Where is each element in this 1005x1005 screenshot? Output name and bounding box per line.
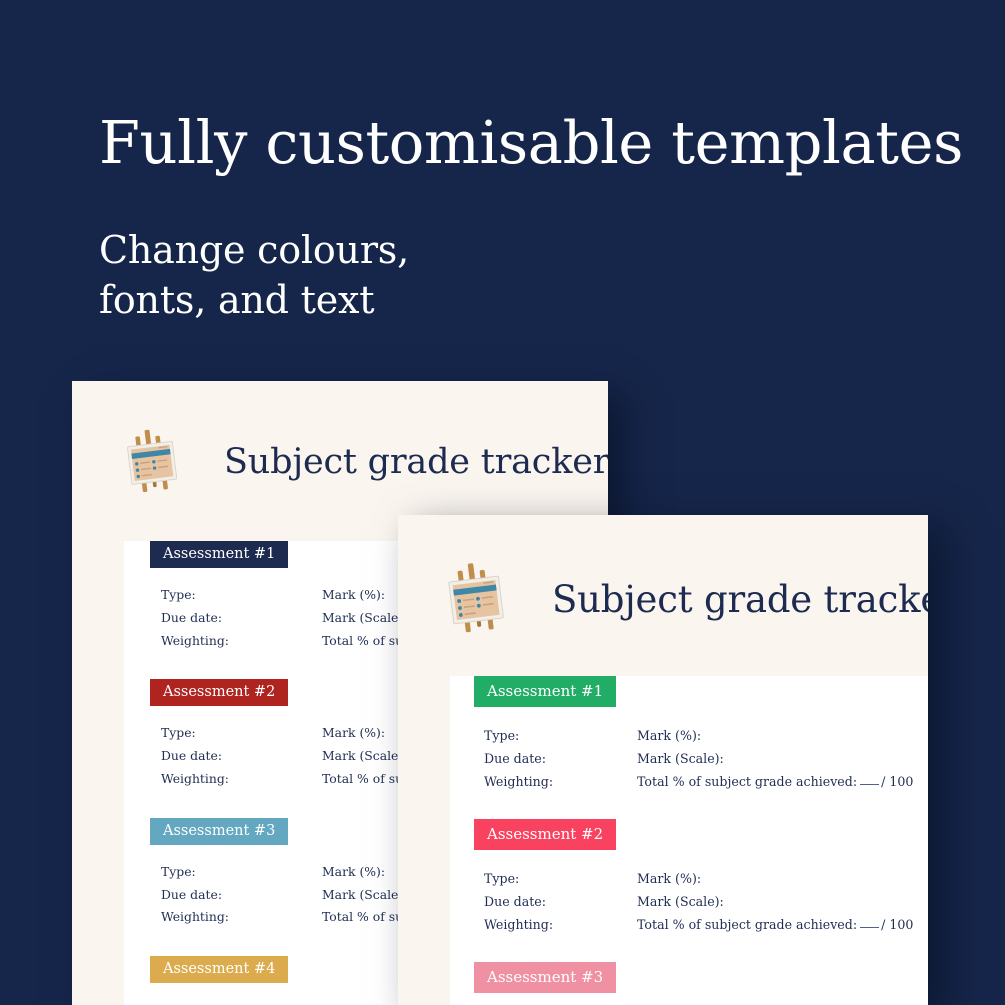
field-type: Type:	[161, 722, 322, 745]
template-card-front[interactable]: Subject grade tracker Assessment #1 Type…	[398, 515, 928, 1005]
assessment-fields: Type: Due date: Weighting: Mark (%): Mar…	[474, 850, 928, 936]
assessment-fields: Type: Due date: Weighting: Mark (%): Mar…	[474, 707, 928, 793]
assessment-block[interactable]: Assessment #1 Type: Due date: Weighting:…	[450, 676, 928, 793]
subtitle-line-2: fonts, and text	[99, 275, 919, 325]
field-due-date: Due date:	[161, 884, 322, 907]
blank-input[interactable]	[860, 784, 879, 785]
total-suffix: / 100	[881, 917, 913, 932]
spacer	[450, 793, 928, 819]
fields-left-column: Type: Due date: Weighting:	[161, 999, 322, 1005]
field-type: Type:	[161, 999, 322, 1005]
field-total-percent: Total % of subject grade achieved:/ 100	[637, 770, 928, 793]
field-weighting: Weighting:	[161, 906, 322, 929]
easel-icon	[445, 557, 507, 641]
field-type: Type:	[161, 584, 322, 607]
easel-icon	[124, 423, 180, 501]
fields-right-column: Mark (%): Mark (Scale): Total % of subje…	[637, 724, 928, 793]
card-title: Subject grade tracker	[224, 442, 608, 482]
fields-left-column: Type: Due date: Weighting:	[161, 861, 322, 929]
page-title: Fully customisable templates	[99, 112, 919, 175]
assessment-fields: Type: Due date: Weighting: Mark (%): Mar…	[474, 993, 928, 1005]
spacer	[450, 936, 928, 962]
assessment-badge[interactable]: Assessment #3	[150, 818, 288, 845]
total-suffix: / 100	[881, 774, 913, 789]
field-weighting: Weighting:	[484, 770, 637, 793]
field-due-date: Due date:	[161, 607, 322, 630]
page-subtitle: Change colours, fonts, and text	[99, 175, 919, 325]
assessment-badge[interactable]: Assessment #4	[150, 956, 288, 983]
hero-section: Fully customisable templates Change colo…	[99, 112, 919, 325]
field-type: Type:	[484, 867, 637, 890]
card-header: Subject grade tracker	[124, 423, 608, 501]
assessment-badge[interactable]: Assessment #1	[150, 541, 288, 568]
field-type: Type:	[161, 861, 322, 884]
field-mark-percent: Mark (%):	[637, 867, 928, 890]
fields-left-column: Type: Due date: Weighting:	[484, 724, 637, 793]
total-label: Total % of subject grade achieved:	[637, 917, 857, 932]
assessment-sheet: Assessment #1 Type: Due date: Weighting:…	[450, 676, 928, 1005]
field-mark-scale: Mark (Scale):	[637, 747, 928, 770]
fields-left-column: Type: Due date: Weighting:	[484, 867, 637, 936]
assessment-block[interactable]: Assessment #3 Type: Due date: Weighting:…	[450, 962, 928, 1005]
fields-right-column: Mark (%): Mark (Scale): Total % of subje…	[637, 867, 928, 936]
card-header: Subject grade tracker	[445, 557, 928, 641]
field-mark-scale: Mark (Scale):	[637, 890, 928, 913]
field-mark-percent: Mark (%):	[637, 724, 928, 747]
page-canvas: Fully customisable templates Change colo…	[0, 0, 1005, 1005]
assessment-badge[interactable]: Assessment #2	[150, 679, 288, 706]
assessment-badge[interactable]: Assessment #3	[474, 962, 616, 993]
field-due-date: Due date:	[484, 747, 637, 770]
fields-left-column: Type: Due date: Weighting:	[161, 722, 322, 790]
assessment-badge[interactable]: Assessment #1	[474, 676, 616, 707]
field-weighting: Weighting:	[484, 913, 637, 936]
card-title: Subject grade tracker	[552, 578, 928, 621]
total-label: Total % of subject grade achieved:	[637, 774, 857, 789]
assessment-block[interactable]: Assessment #2 Type: Due date: Weighting:…	[450, 819, 928, 936]
subtitle-line-1: Change colours,	[99, 225, 919, 275]
field-due-date: Due date:	[161, 745, 322, 768]
blank-input[interactable]	[860, 927, 879, 928]
field-due-date: Due date:	[484, 890, 637, 913]
fields-left-column: Type: Due date: Weighting:	[161, 584, 322, 652]
field-type: Type:	[484, 724, 637, 747]
assessment-badge[interactable]: Assessment #2	[474, 819, 616, 850]
field-weighting: Weighting:	[161, 630, 322, 653]
field-total-percent: Total % of subject grade achieved:/ 100	[637, 913, 928, 936]
field-weighting: Weighting:	[161, 768, 322, 791]
